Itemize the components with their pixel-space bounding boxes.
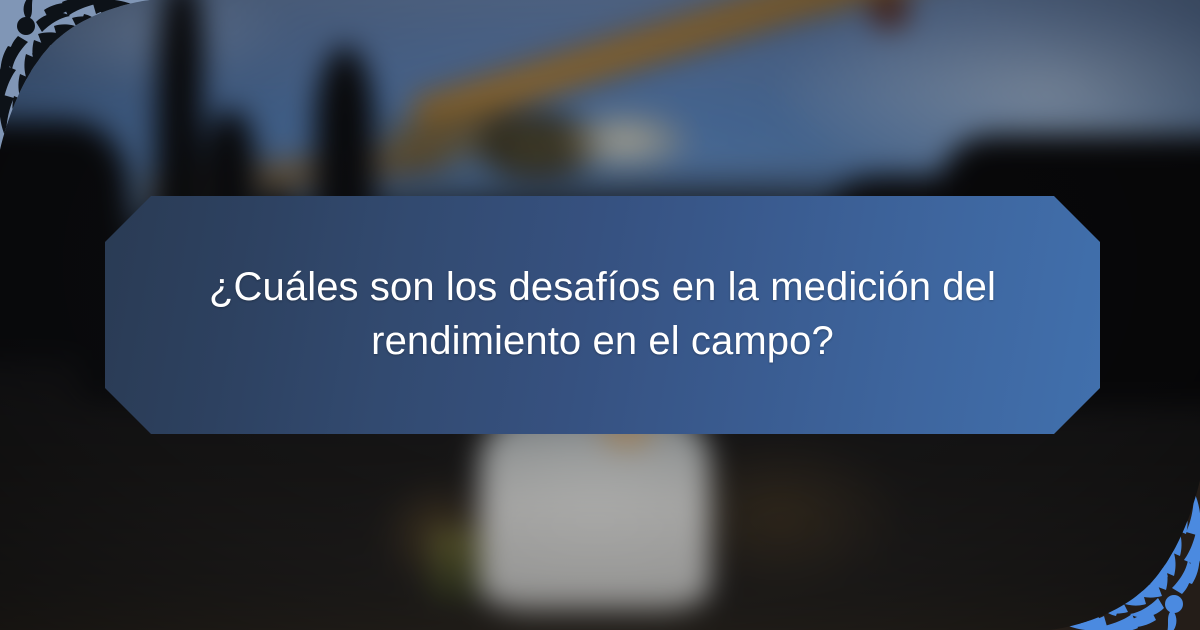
share-card: ¿Cuáles son los desafíos en la medición … — [0, 0, 1200, 630]
ornament-top-left — [0, 0, 150, 150]
ornament-bottom-right — [1050, 480, 1200, 630]
page-title: ¿Cuáles son los desafíos en la medición … — [188, 261, 1018, 368]
title-banner: ¿Cuáles son los desafíos en la medición … — [105, 196, 1100, 434]
